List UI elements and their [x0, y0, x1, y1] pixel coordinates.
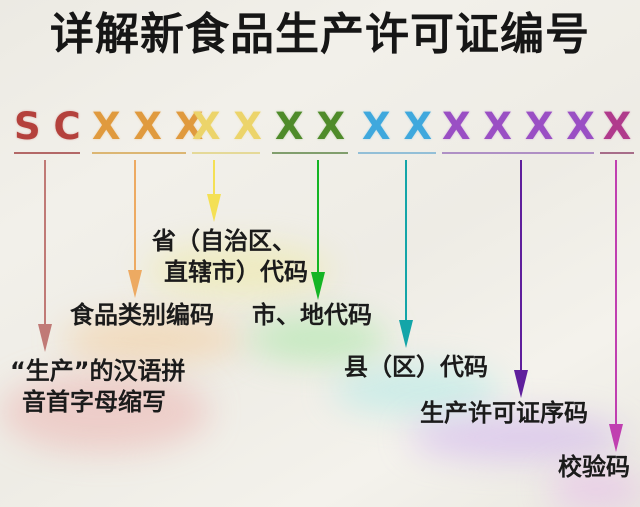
- label-line-city-0: 市、地代码: [252, 300, 372, 331]
- label-check: 校验码: [558, 452, 630, 483]
- arrow-serial: [514, 160, 528, 398]
- code-chars-city: X X: [272, 104, 348, 150]
- arrow-head-check: [609, 424, 623, 452]
- arrow-city: [311, 160, 325, 300]
- code-chars-county: X X: [358, 104, 436, 150]
- code-chars-serial: X X X X: [442, 104, 594, 150]
- arrow-shaft-food-category: [134, 160, 136, 272]
- label-line-county-0: 县（区）代码: [344, 352, 488, 383]
- label-line-food-category-0: 食品类别编码: [70, 300, 214, 331]
- label-province: 省（自治区、直辖市）代码: [152, 226, 308, 288]
- arrow-province: [207, 160, 221, 222]
- code-underline-sc: [14, 152, 80, 154]
- label-city: 市、地代码: [252, 300, 372, 331]
- code-group-serial: X X X X: [442, 104, 594, 160]
- arrow-head-serial: [514, 370, 528, 398]
- code-underline-province: [192, 152, 260, 154]
- poster-canvas: 详解新食品生产许可证编号 S CX X XX XX XX XX X X XX “…: [0, 0, 640, 507]
- code-underline-county: [358, 152, 436, 154]
- code-chars-province: X X: [192, 104, 260, 150]
- arrow-head-county: [399, 320, 413, 348]
- code-underline-check: [600, 152, 634, 154]
- label-county: 县（区）代码: [344, 352, 488, 383]
- code-chars-food-category: X X X: [92, 104, 186, 150]
- arrow-shaft-sc: [44, 160, 46, 326]
- label-line-sc-1: 音首字母缩写: [10, 387, 186, 418]
- page-title: 详解新食品生产许可证编号: [0, 6, 640, 64]
- code-group-city: X X: [272, 104, 348, 160]
- arrow-county: [399, 160, 413, 348]
- label-line-check-0: 校验码: [558, 452, 630, 483]
- code-group-province: X X: [192, 104, 260, 160]
- arrow-shaft-county: [405, 160, 407, 322]
- arrow-head-sc: [38, 324, 52, 352]
- arrow-shaft-city: [317, 160, 319, 274]
- label-line-province-0: 省（自治区、: [152, 226, 308, 257]
- label-line-sc-0: “生产”的汉语拼: [10, 356, 186, 387]
- arrow-head-city: [311, 272, 325, 300]
- arrow-shaft-province: [213, 160, 215, 196]
- code-chars-sc: S C: [14, 104, 80, 150]
- code-group-sc: S C: [14, 104, 80, 160]
- code-underline-serial: [442, 152, 594, 154]
- arrow-shaft-check: [615, 160, 617, 426]
- code-underline-city: [272, 152, 348, 154]
- label-line-province-1: 直辖市）代码: [152, 257, 308, 288]
- code-underline-food-category: [92, 152, 186, 154]
- code-group-county: X X: [358, 104, 436, 160]
- label-food-category: 食品类别编码: [70, 300, 214, 331]
- arrow-check: [609, 160, 623, 452]
- arrow-head-province: [207, 194, 221, 222]
- code-chars-check: X: [600, 104, 634, 150]
- license-code-row: S CX X XX XX XX XX X X XX: [0, 104, 640, 164]
- label-line-serial-0: 生产许可证序码: [420, 398, 588, 429]
- arrow-shaft-serial: [520, 160, 522, 372]
- arrow-food-category: [128, 160, 142, 298]
- label-serial: 生产许可证序码: [420, 398, 588, 429]
- code-group-check: X: [600, 104, 634, 160]
- code-group-food-category: X X X: [92, 104, 186, 160]
- arrow-head-food-category: [128, 270, 142, 298]
- label-sc: “生产”的汉语拼音首字母缩写: [10, 356, 186, 418]
- arrow-sc: [38, 160, 52, 352]
